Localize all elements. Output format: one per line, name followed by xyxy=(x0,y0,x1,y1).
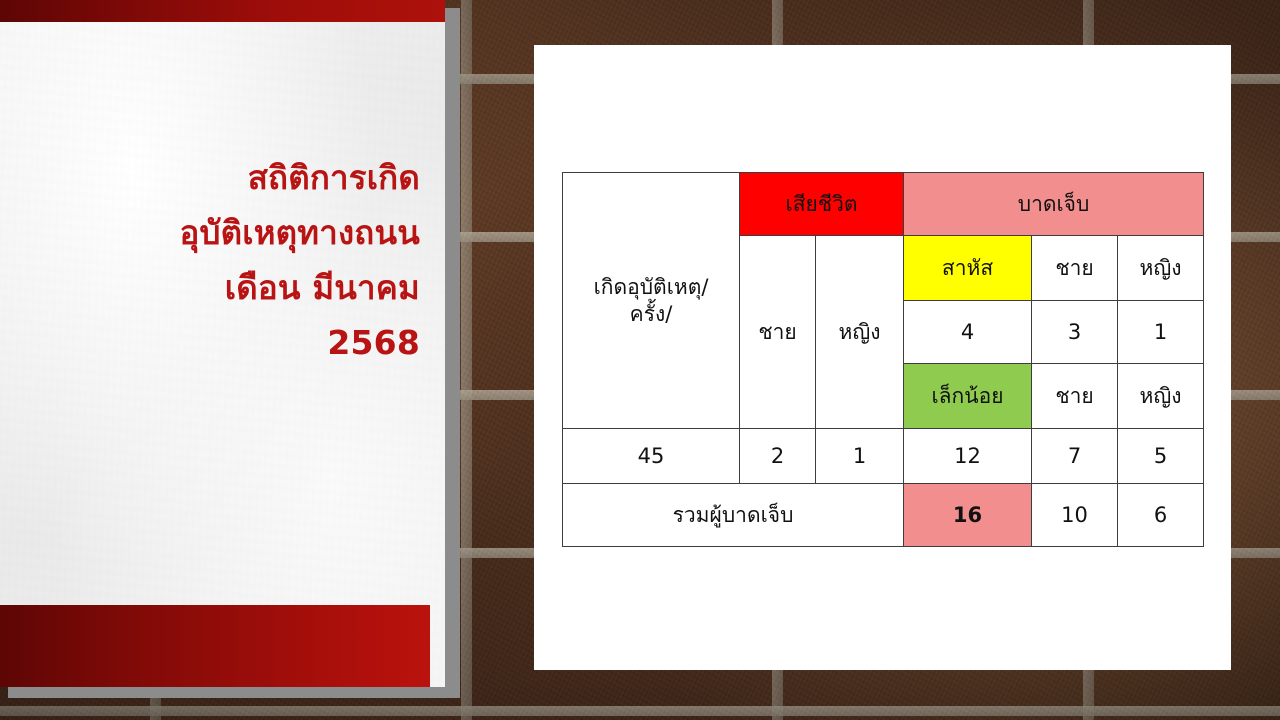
value-severe-total: 4 xyxy=(904,301,1032,364)
title-slide-panel: สถิติการเกิด อุบัติเหตุทางถนน เดือน มีนา… xyxy=(0,0,445,687)
value-accident-count: 45 xyxy=(563,429,740,484)
value-minor-total: 12 xyxy=(904,429,1032,484)
table-row-sum: รวมผู้บาดเจ็บ 16 10 6 xyxy=(563,484,1204,547)
header-injury-group: บาดเจ็บ xyxy=(904,173,1204,236)
row-label-line-2: ครั้ง/ xyxy=(563,301,739,327)
row-label-line-1: เกิดอุบัติเหตุ/ xyxy=(563,274,739,300)
value-death-male: 2 xyxy=(740,429,816,484)
value-total-injured-female: 6 xyxy=(1118,484,1204,547)
label-total-injured: รวมผู้บาดเจ็บ xyxy=(563,484,904,547)
slide-title-line-3: เดือน มีนาคม xyxy=(20,260,420,315)
value-minor-male: 7 xyxy=(1032,429,1118,484)
value-total-injured: 16 xyxy=(904,484,1032,547)
slide-top-red-bar xyxy=(0,0,445,22)
cell-row-label: เกิดอุบัติเหตุ/ ครั้ง/ xyxy=(563,173,740,429)
header-death-group: เสียชีวิต xyxy=(740,173,904,236)
slide-bottom-red-bar xyxy=(0,605,430,687)
table-row-data: 45 2 1 12 7 5 xyxy=(563,429,1204,484)
value-death-female: 1 xyxy=(816,429,904,484)
header-minor-male: ชาย xyxy=(1032,364,1118,429)
header-death-male: ชาย xyxy=(740,236,816,429)
slide-title: สถิติการเกิด อุบัติเหตุทางถนน เดือน มีนา… xyxy=(20,150,420,370)
header-death-female: หญิง xyxy=(816,236,904,429)
slide-title-line-4: 2568 xyxy=(20,315,420,370)
header-minor-female: หญิง xyxy=(1118,364,1204,429)
slide-title-line-2: อุบัติเหตุทางถนน xyxy=(20,205,420,260)
value-total-injured-male: 10 xyxy=(1032,484,1118,547)
slide-canvas: สถิติการเกิด อุบัติเหตุทางถนน เดือน มีนา… xyxy=(0,0,1280,720)
header-severe-male: ชาย xyxy=(1032,236,1118,301)
value-minor-female: 5 xyxy=(1118,429,1204,484)
header-minor: เล็กน้อย xyxy=(904,364,1032,429)
header-severe: สาหัส xyxy=(904,236,1032,301)
header-severe-female: หญิง xyxy=(1118,236,1204,301)
table-row-group-headers: เกิดอุบัติเหตุ/ ครั้ง/ เสียชีวิต บาดเจ็บ xyxy=(563,173,1204,236)
accident-statistics-table: เกิดอุบัติเหตุ/ ครั้ง/ เสียชีวิต บาดเจ็บ… xyxy=(562,172,1204,547)
value-severe-male: 3 xyxy=(1032,301,1118,364)
value-severe-female: 1 xyxy=(1118,301,1204,364)
slide-title-line-1: สถิติการเกิด xyxy=(20,150,420,205)
